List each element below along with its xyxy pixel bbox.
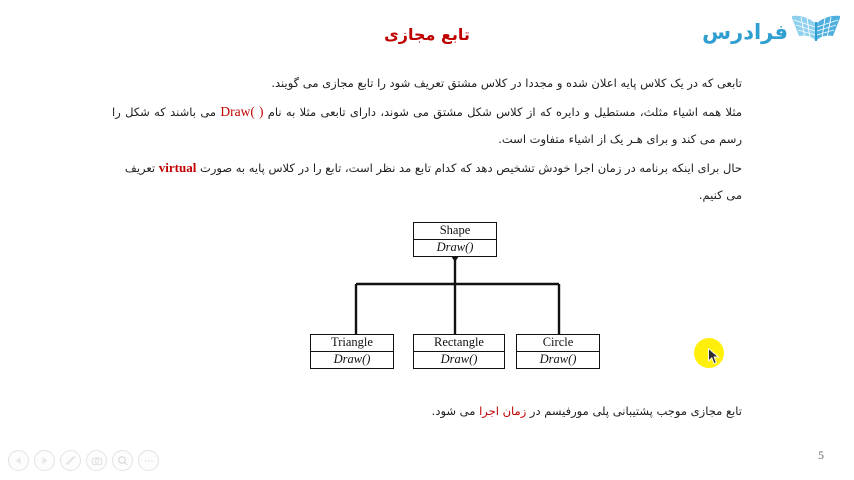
uml-class-rectangle-name: Rectangle [414, 335, 504, 352]
slide-canvas: تابع مجازی فرادرس [0, 0, 854, 480]
zoom-button[interactable] [112, 450, 133, 471]
uml-class-rectangle: Rectangle Draw() [413, 334, 505, 369]
uml-class-triangle-operation: Draw() [311, 352, 393, 368]
uml-class-circle: Circle Draw() [516, 334, 600, 369]
uml-class-rectangle-operation: Draw() [414, 352, 504, 368]
summary-note-highlight: زمان اجرا [479, 404, 526, 418]
code-keyword-virtual: virtual [159, 160, 197, 175]
page-number: 5 [818, 448, 824, 463]
uml-class-circle-name: Circle [517, 335, 599, 352]
paragraph-3: حال برای اینکه برنامه در زمان اجرا خودش … [112, 154, 742, 209]
player-toolbar [8, 450, 159, 471]
uml-class-triangle: Triangle Draw() [310, 334, 394, 369]
summary-note: تابع مجازی موجب پشتیبانی پلی مورفیسم در … [432, 404, 742, 418]
lesson-body: تابعی که در یک کلاس پایه اعلان شده و مجد… [112, 70, 742, 210]
magnifier-icon [117, 455, 129, 467]
snapshot-button[interactable] [86, 450, 107, 471]
code-keyword-draw: Draw( ) [220, 104, 263, 119]
mouse-pointer-icon [708, 348, 721, 371]
pen-tool-button[interactable] [60, 450, 81, 471]
summary-note-text-a: تابع مجازی موجب پشتیبانی پلی مورفیسم در [526, 404, 742, 418]
more-options-button[interactable] [138, 450, 159, 471]
pen-icon [64, 454, 77, 467]
play-button[interactable] [34, 450, 55, 471]
paragraph-2: مثلا همه اشیاء مثلث، مستطیل و دایره که ا… [112, 98, 742, 153]
brand-logo-text: فرادرس [702, 20, 788, 44]
camera-icon [91, 455, 103, 467]
paragraph-1: تابعی که در یک کلاس پایه اعلان شده و مجد… [112, 70, 742, 97]
uml-class-triangle-name: Triangle [311, 335, 393, 352]
uml-class-circle-operation: Draw() [517, 352, 599, 368]
summary-note-text-b: می شود. [432, 404, 479, 418]
open-book-icon [790, 14, 842, 49]
brand-logo: فرادرس [702, 14, 842, 49]
uml-class-shape: Shape Draw() [413, 222, 497, 257]
triangle-left-icon [13, 455, 24, 466]
paragraph-3-text-a: حال برای اینکه برنامه در زمان اجرا خودش … [196, 161, 742, 175]
uml-class-shape-operation: Draw() [414, 240, 496, 256]
paragraph-2-text-a: مثلا همه اشیاء مثلث، مستطیل و دایره که ا… [263, 105, 742, 119]
paragraph-1-text: تابعی که در یک کلاس پایه اعلان شده و مجد… [271, 76, 742, 90]
ellipsis-icon [143, 455, 155, 467]
uml-class-diagram: Shape Draw() Triangle Draw() Rectangle D… [300, 222, 610, 372]
uml-class-shape-name: Shape [414, 223, 496, 240]
previous-slide-button[interactable] [8, 450, 29, 471]
triangle-right-icon [39, 455, 50, 466]
